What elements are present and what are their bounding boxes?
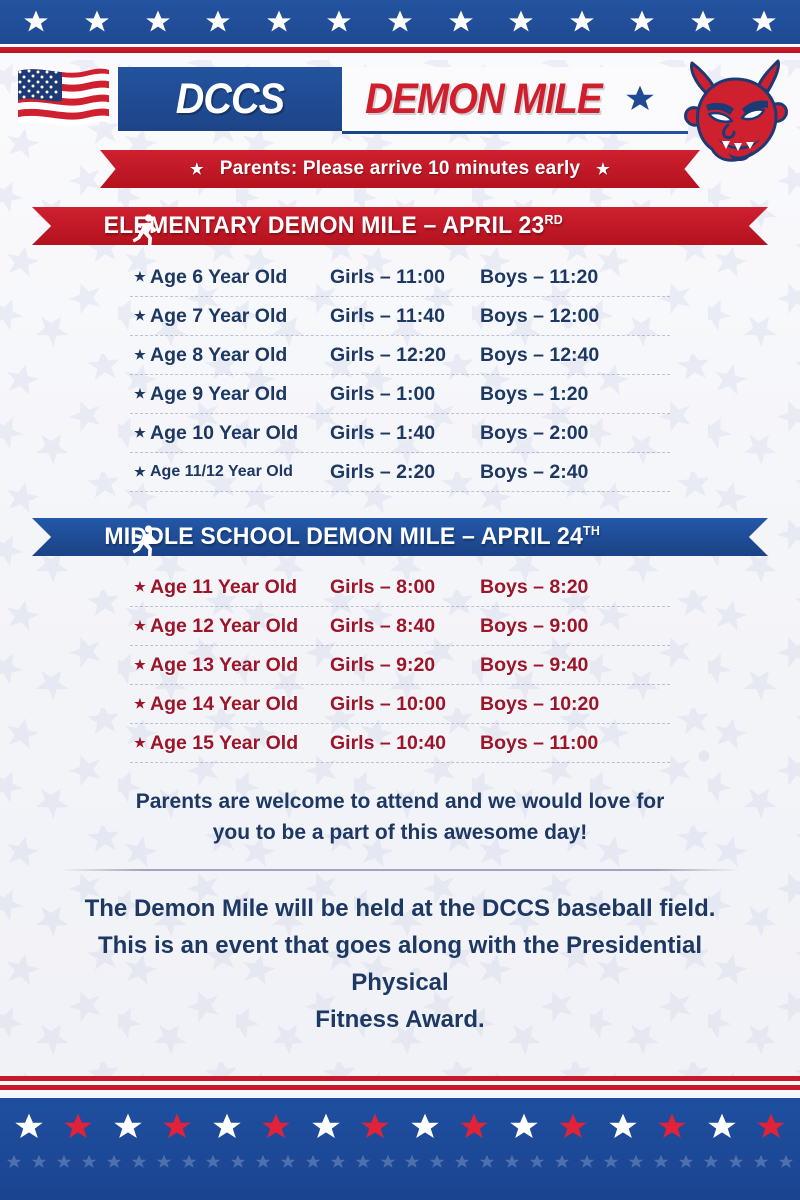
star-icon	[448, 9, 474, 35]
girls-time: Girls – 9:20	[330, 654, 480, 677]
schedule-row: ★ Age 7 Year Old Girls – 11:40 Boys – 12…	[130, 297, 670, 336]
star-icon	[6, 1154, 22, 1170]
star-icon	[31, 1154, 47, 1170]
girls-time: Girls – 11:40	[330, 305, 480, 328]
star-icon	[504, 1154, 520, 1170]
schedule-elementary: ★ Age 6 Year Old Girls – 11:00 Boys – 11…	[130, 258, 670, 492]
boys-time: Boys – 8:20	[480, 576, 630, 599]
star-icon	[625, 84, 655, 114]
star-icon	[261, 1112, 291, 1142]
star-icon	[751, 9, 777, 35]
poster-header: DCCS DEMON MILE	[0, 57, 800, 149]
notice-ribbon: ★Parents: Please arrive 10 minutes early…	[100, 150, 700, 188]
star-icon	[756, 1112, 786, 1142]
schedule-row: ★ Age 11 Year Old Girls – 8:00 Boys – 8:…	[130, 568, 670, 607]
boys-time: Boys – 2:40	[480, 461, 630, 484]
age-label: Age 7 Year Old	[150, 305, 330, 328]
star-icon	[205, 9, 231, 35]
star-icon	[508, 9, 534, 35]
girls-time: Girls – 8:00	[330, 576, 480, 599]
schedule-row: ★ Age 11/12 Year Old Girls – 2:20 Boys –…	[130, 453, 670, 492]
age-label: Age 13 Year Old	[150, 654, 330, 677]
star-icon	[529, 1154, 545, 1170]
age-label: Age 11 Year Old	[150, 576, 330, 599]
star-icon	[162, 1112, 192, 1142]
title-primary-block: DCCS	[118, 67, 342, 131]
section-title-elementary: ELEMENTARY DEMON MILE – APRIL 23RD	[104, 212, 563, 240]
running-person-icon	[130, 214, 160, 246]
invitation-line-1: Parents are welcome to attend and we wou…	[100, 786, 700, 817]
star-icon	[569, 9, 595, 35]
star-icon	[558, 1112, 588, 1142]
star-icon	[603, 1154, 619, 1170]
schedule-row: ★ Age 6 Year Old Girls – 11:00 Boys – 11…	[130, 258, 670, 297]
star-icon	[311, 1112, 341, 1142]
star-icon	[205, 1154, 221, 1170]
star-icon	[653, 1154, 669, 1170]
star-icon	[608, 1112, 638, 1142]
star-icon	[131, 1154, 147, 1170]
star-icon	[629, 9, 655, 35]
schedule-row: ★ Age 15 Year Old Girls – 10:40 Boys – 1…	[130, 724, 670, 763]
star-icon	[326, 9, 352, 35]
notice-ribbon-text: ★Parents: Please arrive 10 minutes early…	[174, 158, 626, 180]
footer-star-row-faded	[0, 1154, 800, 1170]
star-icon	[305, 1154, 321, 1170]
section-title-middle-school: MIDDLE SCHOOL DEMON MILE – APRIL 24TH	[104, 523, 600, 551]
age-label: Age 15 Year Old	[150, 732, 330, 755]
schedule-row: ★ Age 8 Year Old Girls – 12:20 Boys – 12…	[130, 336, 670, 375]
notice-ribbon-body: ★Parents: Please arrive 10 minutes early…	[100, 150, 700, 188]
star-icon	[479, 1154, 495, 1170]
star-icon	[23, 9, 49, 35]
invitation-paragraph: Parents are welcome to attend and we wou…	[100, 786, 700, 848]
star-icon	[84, 9, 110, 35]
girls-time: Girls – 10:00	[330, 693, 480, 716]
girls-time: Girls – 12:20	[330, 344, 480, 367]
location-line-1: The Demon Mile will be held at the DCCS …	[50, 890, 750, 927]
schedule-row: ★ Age 13 Year Old Girls – 9:20 Boys – 9:…	[130, 646, 670, 685]
star-icon	[63, 1112, 93, 1142]
footer-star-band	[0, 1098, 800, 1200]
star-bullet-icon: ★	[130, 735, 150, 751]
title-underline	[342, 131, 688, 134]
title-primary-text: DCCS	[176, 78, 284, 121]
running-person-icon	[130, 525, 160, 557]
us-flag-icon	[14, 65, 112, 137]
star-icon	[14, 1112, 44, 1142]
girls-time: Girls – 2:20	[330, 461, 480, 484]
star-icon	[106, 1154, 122, 1170]
star-icon	[678, 1154, 694, 1170]
age-label: Age 11/12 Year Old	[150, 463, 330, 481]
star-icon	[657, 1112, 687, 1142]
title-secondary-text: DEMON MILE	[365, 78, 601, 121]
boys-time: Boys – 9:00	[480, 615, 630, 638]
age-label: Age 6 Year Old	[150, 266, 330, 289]
location-text-a: The Demon Mile will be held at the DCCS	[85, 895, 557, 922]
location-paragraph: The Demon Mile will be held at the DCCS …	[50, 890, 750, 1038]
star-icon	[230, 1154, 246, 1170]
section-banner-elementary: ELEMENTARY DEMON MILE – APRIL 23RD	[32, 207, 768, 253]
age-label: Age 9 Year Old	[150, 383, 330, 406]
location-line-2: This is an event that goes along with th…	[50, 927, 750, 1001]
footer-star-row-main	[0, 1112, 800, 1142]
star-icon	[703, 1154, 719, 1170]
schedule-row: ★ Age 9 Year Old Girls – 1:00 Boys – 1:2…	[130, 375, 670, 414]
star-icon	[181, 1154, 197, 1170]
title-secondary-block: DEMON MILE	[342, 67, 688, 131]
section-banner-middle-school: MIDDLE SCHOOL DEMON MILE – APRIL 24TH	[32, 518, 768, 564]
notice-text: Parents: Please arrive 10 minutes early	[220, 158, 581, 179]
schedule-row: ★ Age 12 Year Old Girls – 8:40 Boys – 9:…	[130, 607, 670, 646]
star-icon	[113, 1112, 143, 1142]
star-icon: ★	[596, 161, 610, 178]
girls-time: Girls – 8:40	[330, 615, 480, 638]
star-icon	[690, 9, 716, 35]
star-icon	[454, 1154, 470, 1170]
ordinal-suffix: TH	[583, 523, 600, 538]
star-icon	[410, 1112, 440, 1142]
star-icon	[459, 1112, 489, 1142]
boys-time: Boys – 12:00	[480, 305, 630, 328]
girls-time: Girls – 1:40	[330, 422, 480, 445]
star-icon	[81, 1154, 97, 1170]
star-bullet-icon: ★	[130, 347, 150, 363]
star-icon	[156, 1154, 172, 1170]
schedule-row: ★ Age 10 Year Old Girls – 1:40 Boys – 2:…	[130, 414, 670, 453]
footer-rule-white-2	[0, 1090, 800, 1098]
star-icon	[579, 1154, 595, 1170]
star-icon	[56, 1154, 72, 1170]
boys-time: Boys – 9:40	[480, 654, 630, 677]
star-icon	[255, 1154, 271, 1170]
boys-time: Boys – 11:00	[480, 732, 630, 755]
content-divider	[60, 869, 740, 871]
age-label: Age 14 Year Old	[150, 693, 330, 716]
star-icon	[355, 1154, 371, 1170]
star-bullet-icon: ★	[130, 269, 150, 285]
top-star-band	[0, 0, 800, 44]
star-icon	[212, 1112, 242, 1142]
age-label: Age 8 Year Old	[150, 344, 330, 367]
star-icon	[330, 1154, 346, 1170]
star-icon	[707, 1112, 737, 1142]
star-bullet-icon: ★	[130, 657, 150, 673]
star-icon	[380, 1154, 396, 1170]
schedule-row: ★ Age 14 Year Old Girls – 10:00 Boys – 1…	[130, 685, 670, 724]
location-emphasis: baseball field.	[557, 895, 716, 922]
star-bullet-icon: ★	[130, 696, 150, 712]
star-icon	[728, 1154, 744, 1170]
star-icon	[145, 9, 171, 35]
star-icon	[387, 9, 413, 35]
star-icon: ★	[190, 161, 204, 178]
girls-time: Girls – 10:40	[330, 732, 480, 755]
location-line-3: Fitness Award.	[50, 1001, 750, 1038]
star-bullet-icon: ★	[130, 308, 150, 324]
star-bullet-icon: ★	[130, 579, 150, 595]
star-icon	[628, 1154, 644, 1170]
girls-time: Girls – 11:00	[330, 266, 480, 289]
age-label: Age 12 Year Old	[150, 615, 330, 638]
star-icon	[266, 9, 292, 35]
boys-time: Boys – 1:20	[480, 383, 630, 406]
poster-canvas: DCCS DEMON MILE	[0, 0, 800, 1200]
boys-time: Boys – 12:40	[480, 344, 630, 367]
star-bullet-icon: ★	[130, 464, 150, 480]
star-icon	[360, 1112, 390, 1142]
star-bullet-icon: ★	[130, 425, 150, 441]
star-icon	[404, 1154, 420, 1170]
star-icon	[753, 1154, 769, 1170]
star-icon	[429, 1154, 445, 1170]
schedule-middle-school: ★ Age 11 Year Old Girls – 8:00 Boys – 8:…	[130, 568, 670, 763]
star-bullet-icon: ★	[130, 618, 150, 634]
ordinal-suffix: RD	[545, 212, 563, 227]
invitation-line-2: you to be a part of this awesome day!	[100, 817, 700, 848]
star-icon	[778, 1154, 794, 1170]
star-bullet-icon: ★	[130, 386, 150, 402]
red-devil-mascot-icon	[676, 57, 794, 165]
title-bar: DCCS DEMON MILE	[118, 67, 688, 131]
girls-time: Girls – 1:00	[330, 383, 480, 406]
top-star-row	[0, 9, 800, 35]
star-icon	[280, 1154, 296, 1170]
star-icon	[554, 1154, 570, 1170]
boys-time: Boys – 2:00	[480, 422, 630, 445]
star-icon	[509, 1112, 539, 1142]
age-label: Age 10 Year Old	[150, 422, 330, 445]
boys-time: Boys – 10:20	[480, 693, 630, 716]
boys-time: Boys – 11:20	[480, 266, 630, 289]
